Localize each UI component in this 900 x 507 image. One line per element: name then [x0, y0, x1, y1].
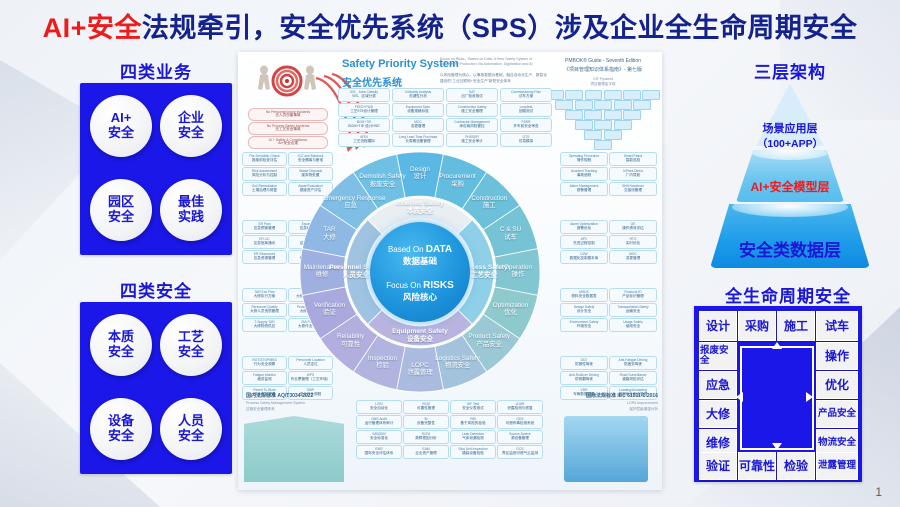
top-box-1-3[interactable]: Looptest回路测试: [500, 103, 552, 117]
mini-box-cn: 故障根因分析: [415, 437, 437, 441]
business-circle-3-line2: 安全: [108, 210, 134, 225]
footer-left-cn: 国内法规标准 AQ/T3034-2022: [246, 392, 346, 399]
pmbok-box-0-5[interactable]: [642, 90, 660, 100]
pmbok-box-1-4[interactable]: [633, 100, 651, 110]
mini-box-cn: 防侧翻驾驶: [575, 378, 593, 382]
business-circle-2-line1: 企业: [178, 111, 204, 126]
wheel-outer-label-cn-2: 施工: [461, 202, 517, 209]
wheel-outer-label-en-13: TAR: [301, 226, 357, 233]
wheel-outer-label-en-15: Demolish Safety: [354, 173, 410, 180]
safety-circle-3-line1: 设备: [108, 414, 134, 429]
mini-box-cn: 操作绩效评估: [622, 227, 644, 231]
top-box-3-3[interactable]: OTS仿真模拟: [500, 133, 552, 147]
right-box-0-4[interactable]: Alarm Management报警管理: [560, 182, 608, 196]
business-circle-1-line1: AI+: [111, 111, 132, 126]
page-number: 1: [875, 485, 882, 499]
top-box-1-1[interactable]: Equipment Spec设备规格标准: [392, 103, 444, 117]
mini-box-cn: 变更管理: [626, 257, 640, 261]
wheel-outer-label-2: Construction施工: [461, 195, 517, 210]
wheel-inner-label-en-0: Inherent Safety: [392, 200, 448, 208]
mini-box-cn: 道路风险评估: [622, 378, 644, 382]
safety-circle-3[interactable]: 设备 安全: [90, 398, 152, 460]
pmbok-box-0-2[interactable]: [585, 90, 603, 100]
top-box-0-3[interactable]: Commissioning Plan试车方案: [500, 88, 552, 102]
mini-box-cn: 基于风险的检验: [460, 422, 485, 426]
right-box-2-2[interactable]: Design Safety设计安全: [560, 303, 608, 317]
top-box-0-0[interactable]: SIS、Area ClassifySIS、区域分类: [338, 88, 390, 102]
mini-box-cn: 工艺流程模拟: [353, 140, 375, 144]
right-box-1-1[interactable]: OE操作绩效评估: [609, 220, 657, 234]
mini-box-cn: 大修物资供应: [254, 325, 276, 329]
wheel-outer-label-en-6: Product Safety: [461, 333, 517, 340]
bottom-box-3-1[interactable]: EAM企业资产管理: [403, 445, 449, 459]
footer-left-illustration: [244, 416, 344, 482]
mini-box-cn: 试车方案: [519, 95, 533, 99]
safety-circle-1-line1: 本质: [108, 330, 134, 345]
right-box-2-0[interactable]: MSDS物料安全数据表: [560, 288, 608, 302]
section-heading-four-safeties: 四类安全: [66, 277, 246, 302]
footer-left-en: Process Safety Management System: [246, 401, 346, 405]
wheel-outer-label-en-10: Reliability: [323, 333, 379, 340]
mini-box-cn: 仿真模拟: [519, 140, 533, 144]
pmbok-box-0-3[interactable]: [604, 90, 622, 100]
right-box-3-0[interactable]: DDT防御性驾驶: [560, 356, 608, 370]
lifecycle-cell-design[interactable]: 设计: [699, 311, 737, 341]
mini-box-cn: 源设备管理: [511, 437, 529, 441]
wheel-outer-label-cn-10: 可靠性: [323, 341, 379, 348]
right-box-2-1[interactable]: Products ID产品标识管理: [609, 288, 657, 302]
section-heading-four-businesses: 四类业务: [66, 58, 246, 83]
right-group-2: MSDS物料安全数据表Products ID产品标识管理Design Safet…: [560, 288, 658, 350]
pyramid-layer-mid-label: AI+安全模型层: [690, 178, 890, 195]
mini-box-cn: 承包商风险管控: [459, 125, 484, 129]
mini-box-cn: 运行管理体系审计: [365, 422, 394, 426]
top-box-1-2[interactable]: Construction Safety施工安全管理: [446, 103, 498, 117]
business-circle-3[interactable]: 园区 安全: [90, 179, 152, 241]
left-box-1-4[interactable]: ER Resources应急资源管理: [242, 250, 287, 264]
pmbok-row-5: [546, 140, 660, 150]
wheel-outer-label-5: Optimization优化: [483, 302, 539, 317]
right-box-0-0[interactable]: Operating Procedure操作规程: [560, 152, 608, 166]
mini-box-cn: 开车前安全审查: [513, 125, 538, 129]
footer-right-illustration: [564, 416, 648, 482]
top-box-0-1[interactable]: Criticality Analysis关键性分析: [392, 88, 444, 102]
wheel-outer-label-cn-3: 试车: [483, 234, 539, 241]
right-box-3-2[interactable]: Anti-Rollover Driving防侧翻驾驶: [560, 371, 608, 385]
left-box-2-0[interactable]: TAR Exe Plan大修执行方案: [242, 288, 287, 302]
mini-box-cn: 应急资源管理: [254, 257, 276, 261]
mini-box-cn: 数据化控制基本库: [570, 257, 599, 261]
lifecycle-cell-lopc[interactable]: 泄露管理: [816, 452, 858, 480]
footer-left-sub: 过程安全管理体系: [246, 407, 346, 412]
poster-header-note-en: Focus on Risks、Based on Data, A New Safe…: [440, 57, 550, 68]
business-circle-1[interactable]: AI+ 安全: [90, 95, 152, 157]
wheel-inner-label-en-2: Equipment Safety: [392, 328, 448, 336]
bottom-box-1-3[interactable]: GDS可燃有毒检测系统: [497, 415, 543, 429]
pmbok-sub-en: OIF Pyramid: [548, 77, 658, 81]
pmbok-row-3: [546, 120, 660, 130]
top-box-1-0[interactable]: FEED+P&ID工艺975设计管理: [338, 103, 390, 117]
safety-circle-4-line2: 安全: [178, 429, 204, 444]
safety-circle-4[interactable]: 人员 安全: [160, 398, 222, 460]
right-box-0-1[interactable]: Smart Patrol智能巡检: [609, 152, 657, 166]
wheel-outer-label-10: Reliability可靠性: [323, 333, 379, 348]
left-box-0-4[interactable]: Soil Remediation土壤治理与修复: [242, 182, 287, 196]
wheel-outer-label-cn-8: 泄露管理: [392, 369, 448, 376]
pmbok-inverted-pyramid: [546, 90, 660, 152]
mini-box-cn: 界区监测可燃气云监测: [502, 452, 538, 456]
wheel-outer-label-cn-13: 大修: [301, 234, 357, 241]
mini-box-cn: 可燃有毒检测系统: [506, 422, 535, 426]
right-box-1-5[interactable]: MOC变更管理: [609, 250, 657, 264]
wheel-outer-label-en-14: Emergency Response: [323, 195, 379, 202]
right-box-1-2[interactable]: APC先进过程控制: [560, 235, 608, 249]
left-box-1-2[interactable]: ER LIC应急指挥通讯: [242, 235, 287, 249]
right-group-0: Operating Procedure操作规程Smart Patrol智能巡检A…: [560, 152, 658, 214]
mini-box-cn: SIS、区域分类: [352, 95, 376, 99]
pmbok-box-2-0[interactable]: [565, 110, 583, 120]
top-box-3-2[interactable]: PHSSER施工安全审计: [446, 133, 498, 147]
right-box-1-0[interactable]: Alarm Optimization报警优化: [560, 220, 608, 234]
wheel-inner-label-2: Equipment Safety设备安全: [392, 328, 448, 343]
right-box-0-2[interactable]: Accident Tracking事故追踪: [560, 167, 608, 181]
mini-box-cn: 环境安全: [577, 325, 591, 329]
mini-box-cn: 安全自动化: [370, 407, 388, 411]
pmbok-box-2-3[interactable]: [623, 110, 641, 120]
right-box-2-4[interactable]: Environment Safety环境安全: [560, 318, 608, 332]
right-box-0-3[interactable]: InPlant Direct厂内导航: [609, 167, 657, 181]
bottom-mini-grid: I-SSI安全自动化RCM可靠性管理SIF Test安全仪表测试LDAR泄露检测…: [356, 400, 542, 462]
mini-box-cn: 物料安全数据表: [571, 295, 596, 299]
top-box-3-1[interactable]: Long Lead Time Purchase长周期设备管理: [392, 133, 444, 147]
left-box-2-2[interactable]: Personnel Qualify大修人员资质管理: [242, 303, 287, 317]
wheel-inner-label-cn-2: 设备安全: [392, 336, 448, 344]
lifecycle-cell-commissioning[interactable]: 试车: [816, 311, 858, 341]
top-box-3-0[interactable]: APDI工艺流程模拟: [338, 133, 390, 147]
wheel-outer-label-11: Verification验证: [301, 302, 357, 317]
pmbok-box-4-1[interactable]: [604, 130, 622, 140]
lifecycle-cell-reliability[interactable]: 可靠性: [738, 452, 776, 480]
wheel-outer-label-en-7: Logistics Safety: [430, 355, 486, 362]
mini-box-cn: 国际安全评估体系: [365, 452, 394, 456]
right-box-2-5[interactable]: Usage Safety使用安全: [609, 318, 657, 332]
mini-box-cn: 防御性驾驶: [575, 363, 593, 367]
lifecycle-loop-arrow: [740, 346, 814, 450]
mini-box-cn: 设备规格标准: [407, 110, 429, 114]
lifecycle-panel: 设计 采购 施工 试车 报废安全 应急 大修 维修 验证 操作 优化 产品安全 …: [694, 306, 862, 482]
safety-circle-2-line2: 安全: [178, 345, 204, 360]
safety-circle-2[interactable]: 工艺 安全: [160, 314, 222, 376]
pmbok-title-en: PMBOK® Guide - Seventh Edition: [548, 58, 658, 64]
wheel-outer-label-cn-1: 采购: [430, 181, 486, 188]
pmbok-box-1-2[interactable]: [594, 100, 612, 110]
lifecycle-cell-construction[interactable]: 施工: [777, 311, 815, 341]
mini-box-cn: 大修人员资质管理: [250, 310, 279, 314]
pyramid-layer-bottom-label: 安全类数据层: [690, 236, 890, 261]
bottom-box-2-3[interactable]: Source Device源设备管理: [497, 430, 543, 444]
mini-box-cn: 风险分析与控制: [252, 174, 277, 178]
left-box-0-2[interactable]: Risk Assessment风险分析与控制: [242, 167, 287, 181]
top-box-2-1[interactable]: MOC变更管理: [392, 118, 444, 132]
pmbok-box-3-2[interactable]: [614, 120, 632, 130]
wheel-outer-label-3: C & SU试车: [483, 226, 539, 241]
business-circle-2[interactable]: 企业 安全: [160, 95, 222, 157]
wheel-outer-label-15: Demolish Safety报废安全: [354, 173, 410, 188]
safety-circle-2-line1: 工艺: [178, 330, 204, 345]
wheel-outer-label-cn-9: 检验: [354, 362, 410, 369]
pmbok-box-0-1[interactable]: [565, 90, 583, 100]
mini-box-cn: 先进过程控制: [573, 242, 595, 246]
mini-box-cn: 设计安全: [577, 310, 591, 314]
section-heading-lifecycle: 全生命周期安全: [680, 282, 896, 307]
right-mini-groups: Operating Procedure操作规程Smart Patrol智能巡检A…: [560, 152, 658, 420]
poster-header-cn: 安全优先系统: [342, 74, 402, 89]
lifecycle-cell-turnaround[interactable]: 大修: [699, 400, 737, 428]
pmbok-box-2-2[interactable]: [604, 110, 622, 120]
mini-box-cn: 操作规程: [577, 159, 591, 163]
mini-box-cn: 工艺975设计管理: [350, 110, 378, 114]
safety-circle-1-line2: 安全: [108, 345, 134, 360]
lifecycle-cell-procurement[interactable]: 采购: [738, 311, 776, 341]
business-circle-2-line2: 安全: [178, 126, 204, 141]
mini-box-cn: 产品标识管理: [622, 295, 644, 299]
pmbok-box-3-0[interactable]: [575, 120, 593, 130]
wheel-core: Based On DATA 数据基础 Focus On RISKS 风险核心: [370, 222, 470, 322]
wheel-outer-label-en-5: Optimization: [483, 302, 539, 309]
top-box-2-0[interactable]: BOM+TIEBOM+TIE 设计HSE: [338, 118, 390, 132]
four-businesses-panel: AI+ 安全 企业 安全 园区 安全 最佳 实践: [80, 83, 232, 255]
pmbok-box-1-3[interactable]: [614, 100, 632, 110]
mini-box-cn: 厂内导航: [626, 174, 640, 178]
bottom-box-3-3[interactable]: GCS界区监测可燃气云监测: [497, 445, 543, 459]
section-heading-three-layers: 三层架构: [690, 58, 890, 83]
poster-header-note-cn: 以风险管理为核心，以事故数据为基础，融合自动化生产、数智化建设的“工业互联网+安…: [440, 73, 550, 84]
lifecycle-cell-product-safety[interactable]: 产品安全: [816, 400, 858, 428]
mini-box-cn: 疲劳监测: [257, 378, 271, 382]
wheel-outer-label-14: Emergency Response应急: [323, 195, 379, 210]
mini-box-cn: 关键性分析: [409, 95, 427, 99]
footer-right-cn: 国际法规标准 IEC 61511-1:2016: [552, 392, 658, 399]
four-safeties-panel: 本质 安全 工艺 安全 设备 安全 人员 安全: [80, 302, 232, 474]
pyramid-layer-top-label: 场景应用层 （100+APP）: [690, 120, 890, 151]
mini-box-cn: 长周期设备管理: [405, 140, 430, 144]
pmbok-title-cn: 《项目管理知识体系指南》- 第七版: [548, 66, 658, 73]
mini-box-cn: 智能巡检: [626, 159, 640, 163]
wheel-outer-label-6: Product Safety产品安全: [461, 333, 517, 348]
loop-arrow-left-icon: [736, 392, 743, 402]
mini-box-cn: 土壤治理与修复: [252, 189, 277, 193]
right-box-1-3[interactable]: RTO实时优化: [609, 235, 657, 249]
lifecycle-cell-inspection[interactable]: 检验: [777, 452, 815, 480]
business-circle-1-line2: 安全: [108, 126, 134, 141]
wheel-outer-label-13: TAR大修: [301, 226, 357, 241]
core-line-1: Based On DATA 数据基础: [370, 244, 470, 267]
top-box-2-3[interactable]: PSSR开车前安全审查: [500, 118, 552, 132]
mini-box-cn: 应急预案管理: [254, 227, 276, 231]
mini-box-cn: 企业资产管理: [415, 452, 437, 456]
pmbok-box-2-1[interactable]: [584, 110, 602, 120]
mini-box-cn: 安全标准化: [370, 437, 388, 441]
wheel-inner-label-cn-0: 本质安全: [392, 208, 448, 216]
pmbok-row-4: [546, 130, 660, 140]
bottom-box-1-1[interactable]: BI设备完整性: [403, 415, 449, 429]
left-box-1-0[interactable]: ER Plan应急预案管理: [242, 220, 287, 234]
mini-box-cn: 施工安全管理: [461, 110, 483, 114]
lifecycle-cell-verification[interactable]: 验证: [699, 452, 737, 480]
pmbok-box-1-0[interactable]: [555, 100, 573, 110]
wheel-outer-label-9: Inspection检验: [354, 355, 410, 370]
top-box-2-2[interactable]: Contractor Management承包商风险管控: [446, 118, 498, 132]
pmbok-box-3-1[interactable]: [594, 120, 612, 130]
safety-circle-3-line2: 安全: [108, 429, 134, 444]
business-circle-3-line1: 园区: [108, 195, 134, 210]
mini-box-cn: 气体泄漏检测: [462, 437, 484, 441]
lifecycle-cell-operation[interactable]: 操作: [816, 342, 858, 370]
three-layer-pyramid: 场景应用层 （100+APP） AI+安全模型层 安全类数据层: [690, 84, 890, 274]
business-circle-4-line1: 最佳: [178, 195, 204, 210]
pmbok-row-1: [546, 100, 660, 110]
bottom-box-0-1[interactable]: RCM可靠性管理: [403, 400, 449, 414]
mini-box-cn: 报废前检查评估: [252, 159, 277, 163]
sps-poster: No Personnel Injury Incidents无人员伤害事故 No …: [238, 52, 662, 490]
left-box-3-0[interactable]: ROT/STOP/BBS行为安全观察: [242, 356, 287, 370]
page-title: AI+安全法规牵引，安全优先系统（SPS）涉及企业全生命周期安全: [0, 6, 900, 45]
right-box-3-3[interactable]: Road Surveillance道路风险评估: [609, 371, 657, 385]
page-title-rest: 法规牵引，安全优先系统（SPS）涉及企业全生命周期安全: [142, 13, 858, 43]
footer-right-en: LOPA Improvement: [552, 401, 658, 405]
loop-arrow-up-icon: [772, 342, 782, 349]
mini-box-cn: 大修执行方案: [254, 295, 276, 299]
business-circle-4-line2: 实践: [178, 210, 204, 225]
lifecycle-cell-optimization[interactable]: 优化: [816, 371, 858, 399]
pmbok-box-5-0[interactable]: [594, 140, 612, 150]
mini-box-cn: 安全仪表测试: [462, 407, 484, 411]
mini-box-cn: 泄露检测与修复: [507, 407, 532, 411]
bottom-box-2-2[interactable]: Leak Detection气体泄漏检测: [450, 430, 496, 444]
footer-right-sub: 保护层级增强分析: [552, 407, 658, 412]
bottom-box-1-0[interactable]: OMS Audit运行管理体系审计: [356, 415, 402, 429]
safety-circle-4-line1: 人员: [178, 414, 204, 429]
wheel-outer-label-1: Procurement采购: [430, 173, 486, 188]
right-box-1-4[interactable]: D2W数据化控制基本库: [560, 250, 608, 264]
right-box-3-1[interactable]: Anti-Fatigue Driving防疲劳驾驶: [609, 356, 657, 370]
wheel-outer-label-en-9: Inspection: [354, 355, 410, 362]
mini-box-cn: 防疲劳驾驶: [624, 363, 642, 367]
left-box-2-4[interactable]: T-Supply TAR大修物资供应: [242, 318, 287, 332]
wheel-outer-label-en-3: C & SU: [483, 226, 539, 233]
mini-box-cn: 应急指挥通讯: [254, 242, 276, 246]
wheel-outer-label-cn-11: 验证: [301, 309, 357, 316]
wheel-inner-label-0: Inherent Safety本质安全: [392, 200, 448, 215]
core-line-2: Focus On RISKS 风险核心: [370, 280, 470, 303]
wheel-outer-label-en-1: Procurement: [430, 173, 486, 180]
top-mini-grid: SIS、Area ClassifySIS、区域分类Criticality Ana…: [338, 88, 550, 150]
mini-box-cn: 实时优化: [626, 242, 640, 246]
bottom-box-3-2[interactable]: Skid Unit Inspection撬装设备检验: [450, 445, 496, 459]
pmbok-box-1-1[interactable]: [575, 100, 593, 110]
bottom-box-0-2[interactable]: SIF Test安全仪表测试: [450, 400, 496, 414]
mini-box-cn: 变更管理: [411, 125, 425, 129]
loop-arrow-right-icon: [806, 392, 813, 402]
pmbok-box-0-4[interactable]: [623, 90, 641, 100]
wheel-outer-label-cn-5: 优化: [483, 309, 539, 316]
bottom-box-0-0[interactable]: I-SSI安全自动化: [356, 400, 402, 414]
mini-box-cn: 施工安全审计: [461, 140, 483, 144]
bottom-box-1-2[interactable]: RBI基于风险的检验: [450, 415, 496, 429]
mini-box-cn: 可靠性管理: [417, 407, 435, 411]
page-title-highlight: AI+安全: [43, 13, 142, 43]
bottom-box-0-3[interactable]: LDAR泄露检测与修复: [497, 400, 543, 414]
loop-arrow-down-icon: [772, 443, 782, 450]
sps-wheel: Design设计Procurement采购Construction施工C & S…: [298, 150, 542, 394]
left-box-3-2[interactable]: Fatigue Monitor疲劳监测: [242, 371, 287, 385]
lifecycle-cell-decommission[interactable]: 报废安全: [699, 342, 737, 370]
safety-circle-1[interactable]: 本质 安全: [90, 314, 152, 376]
mini-box-cn: 报警管理: [577, 189, 591, 193]
mini-box-cn: 撬装设备检验: [462, 452, 484, 456]
mini-box-cn: 使用安全: [626, 325, 640, 329]
pmbok-row-0: [546, 90, 660, 100]
wheel-outer-label-en-11: Verification: [301, 302, 357, 309]
mini-box-cn: 交接班管理: [624, 189, 642, 193]
mini-box-cn: 报警优化: [577, 227, 591, 231]
lifecycle-cell-emergency[interactable]: 应急: [699, 371, 737, 399]
right-group-1: Alarm Optimization报警优化OE操作绩效评估APC先进过程控制R…: [560, 220, 658, 282]
mini-box-cn: 事故追踪: [577, 174, 591, 178]
mini-box-cn: 行为安全观察: [254, 363, 276, 367]
mini-box-cn: BOM+TIE 设计HSE: [348, 125, 379, 129]
bottom-box-3-0[interactable]: EMS国际安全评估体系: [356, 445, 402, 459]
bottom-box-2-0[interactable]: GB33000安全标准化: [356, 430, 402, 444]
right-box-0-5[interactable]: Shift Handover交接班管理: [609, 182, 657, 196]
bottom-box-2-1[interactable]: RCFA故障根因分析: [403, 430, 449, 444]
left-box-0-0[interactable]: Pre-Demolish Check报废前检查评估: [242, 152, 287, 166]
pmbok-row-2: [546, 110, 660, 120]
wheel-outer-label-cn-15: 报废安全: [354, 181, 410, 188]
mini-box-cn: 回路测试: [519, 110, 533, 114]
top-box-0-2[interactable]: SAT出厂验收测试: [446, 88, 498, 102]
pmbok-sub-cn: 项目管理金字塔: [548, 82, 658, 87]
slide-root: AI+安全法规牵引，安全优先系统（SPS）涉及企业全生命周期安全 四类业务 AI…: [0, 0, 900, 507]
mini-box-cn: 运输安全: [626, 310, 640, 314]
right-box-2-3[interactable]: Transportation Safety运输安全: [609, 303, 657, 317]
wheel-outer-label-cn-6: 产品安全: [461, 341, 517, 348]
mini-box-cn: 设备完整性: [417, 422, 435, 426]
business-circle-4[interactable]: 最佳 实践: [160, 179, 222, 241]
wheel-outer-label-cn-14: 应急: [323, 202, 379, 209]
pmbok-box-4-0[interactable]: [584, 130, 602, 140]
mini-box-cn: 出厂验收测试: [461, 95, 483, 99]
wheel-outer-label-en-2: Construction: [461, 195, 517, 202]
